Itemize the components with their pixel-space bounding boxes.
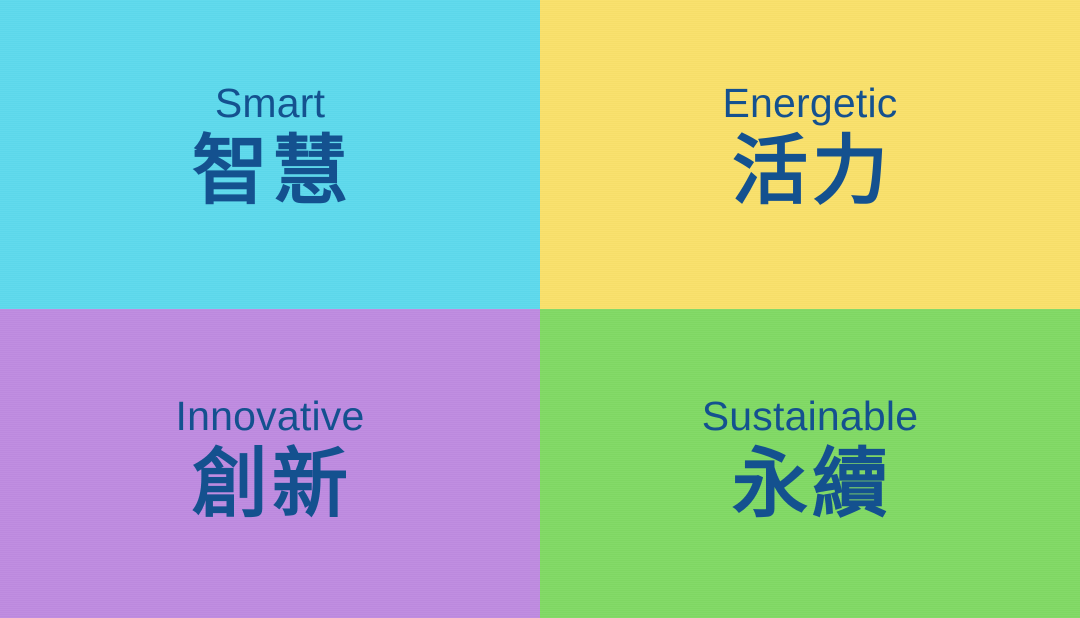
value-label-en: Innovative bbox=[176, 395, 365, 438]
value-card-smart[interactable]: Smart 智慧 bbox=[0, 0, 540, 309]
value-label-en: Energetic bbox=[722, 82, 897, 125]
value-label-zh: 創新 bbox=[188, 442, 352, 527]
value-label-en: Sustainable bbox=[702, 395, 918, 438]
value-card-text-stack: Innovative 創新 bbox=[176, 395, 365, 527]
value-card-text-stack: Energetic 活力 bbox=[722, 82, 897, 214]
value-card-sustainable[interactable]: Sustainable 永續 bbox=[540, 309, 1080, 618]
value-card-innovative[interactable]: Innovative 創新 bbox=[0, 309, 540, 618]
value-card-energetic[interactable]: Energetic 活力 bbox=[540, 0, 1080, 309]
value-label-zh: 智慧 bbox=[188, 129, 352, 214]
value-card-text-stack: Sustainable 永續 bbox=[702, 395, 918, 527]
value-label-zh: 永續 bbox=[728, 442, 892, 527]
value-label-en: Smart bbox=[215, 82, 325, 125]
value-card-text-stack: Smart 智慧 bbox=[188, 82, 352, 214]
value-label-zh: 活力 bbox=[728, 129, 892, 214]
brand-values-grid: Smart 智慧 Energetic 活力 Innovative 創新 Sust… bbox=[0, 0, 1080, 618]
